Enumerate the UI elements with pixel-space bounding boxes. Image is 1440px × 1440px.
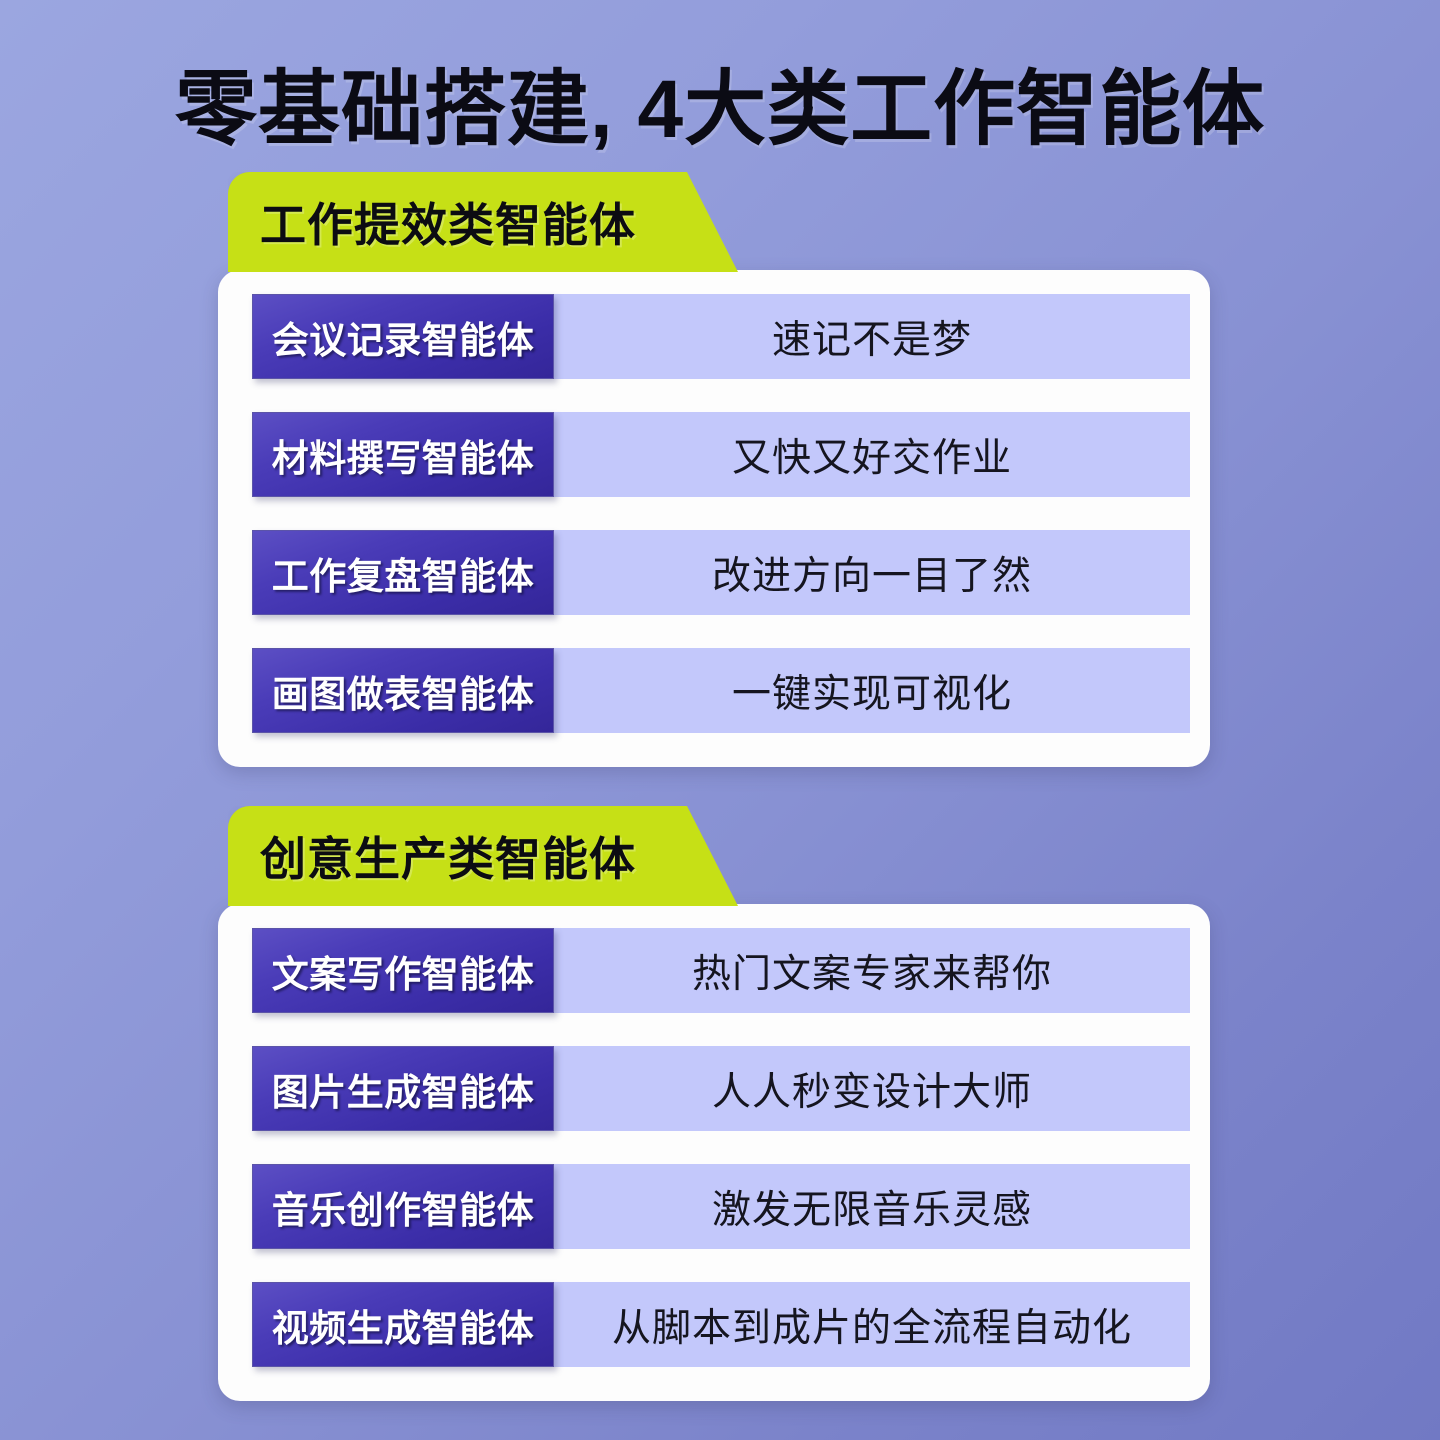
agent-desc-cell: 从脚本到成片的全流程自动化 [554, 1282, 1190, 1367]
table-row[interactable]: 工作复盘智能体 改进方向一目了然 [252, 530, 1190, 615]
agent-name-chip[interactable]: 会议记录智能体 [252, 294, 554, 379]
agent-name-label: 画图做表智能体 [272, 664, 535, 718]
agent-name-chip[interactable]: 工作复盘智能体 [252, 530, 554, 615]
agent-name-chip[interactable]: 图片生成智能体 [252, 1046, 554, 1131]
agent-desc-label: 人人秒变设计大师 [712, 1061, 1032, 1117]
agent-desc-label: 热门文案专家来帮你 [692, 943, 1052, 999]
agent-desc-cell: 激发无限音乐灵感 [554, 1164, 1190, 1249]
section-banner: 工作提效类智能体 [228, 172, 738, 272]
agent-desc-cell: 速记不是梦 [554, 294, 1190, 379]
agent-name-chip[interactable]: 视频生成智能体 [252, 1282, 554, 1367]
agent-desc-label: 激发无限音乐灵感 [712, 1179, 1032, 1235]
agent-name-label: 视频生成智能体 [272, 1298, 535, 1352]
page-title: 零基础搭建, 4大类工作智能体 [0, 42, 1440, 161]
table-row[interactable]: 会议记录智能体 速记不是梦 [252, 294, 1190, 379]
agent-name-label: 音乐创作智能体 [272, 1180, 535, 1234]
section-card: 文案写作智能体 热门文案专家来帮你 图片生成智能体 人人秒变设计大师 音乐创作智… [218, 904, 1210, 1401]
agent-name-label: 图片生成智能体 [272, 1062, 535, 1116]
agent-desc-label: 从脚本到成片的全流程自动化 [612, 1297, 1132, 1353]
agent-desc-cell: 人人秒变设计大师 [554, 1046, 1190, 1131]
section-banner-label: 工作提效类智能体 [228, 189, 636, 255]
table-row[interactable]: 文案写作智能体 热门文案专家来帮你 [252, 928, 1190, 1013]
section-creative-production: 创意生产类智能体 文案写作智能体 热门文案专家来帮你 图片生成智能体 人人秒变设… [218, 806, 1210, 1401]
agent-name-chip[interactable]: 画图做表智能体 [252, 648, 554, 733]
agent-desc-cell: 改进方向一目了然 [554, 530, 1190, 615]
table-row[interactable]: 画图做表智能体 一键实现可视化 [252, 648, 1190, 733]
section-card: 会议记录智能体 速记不是梦 材料撰写智能体 又快又好交作业 工作复盘智能体 改进… [218, 270, 1210, 767]
agent-name-label: 文案写作智能体 [272, 944, 535, 998]
agent-desc-label: 又快又好交作业 [732, 427, 1012, 483]
agent-name-chip[interactable]: 材料撰写智能体 [252, 412, 554, 497]
section-banner: 创意生产类智能体 [228, 806, 738, 906]
agent-name-label: 材料撰写智能体 [272, 428, 535, 482]
table-row[interactable]: 图片生成智能体 人人秒变设计大师 [252, 1046, 1190, 1131]
agent-name-chip[interactable]: 文案写作智能体 [252, 928, 554, 1013]
agent-name-label: 工作复盘智能体 [272, 546, 535, 600]
agent-desc-label: 改进方向一目了然 [712, 545, 1032, 601]
table-row[interactable]: 视频生成智能体 从脚本到成片的全流程自动化 [252, 1282, 1190, 1367]
section-work-efficiency: 工作提效类智能体 会议记录智能体 速记不是梦 材料撰写智能体 又快又好交作业 工… [218, 172, 1210, 767]
section-banner-label: 创意生产类智能体 [228, 823, 636, 889]
agent-desc-cell: 又快又好交作业 [554, 412, 1190, 497]
table-row[interactable]: 音乐创作智能体 激发无限音乐灵感 [252, 1164, 1190, 1249]
agent-desc-cell: 一键实现可视化 [554, 648, 1190, 733]
agent-name-label: 会议记录智能体 [272, 310, 535, 364]
agent-desc-label: 速记不是梦 [772, 309, 972, 365]
agent-name-chip[interactable]: 音乐创作智能体 [252, 1164, 554, 1249]
table-row[interactable]: 材料撰写智能体 又快又好交作业 [252, 412, 1190, 497]
agent-desc-cell: 热门文案专家来帮你 [554, 928, 1190, 1013]
agent-desc-label: 一键实现可视化 [732, 663, 1012, 719]
